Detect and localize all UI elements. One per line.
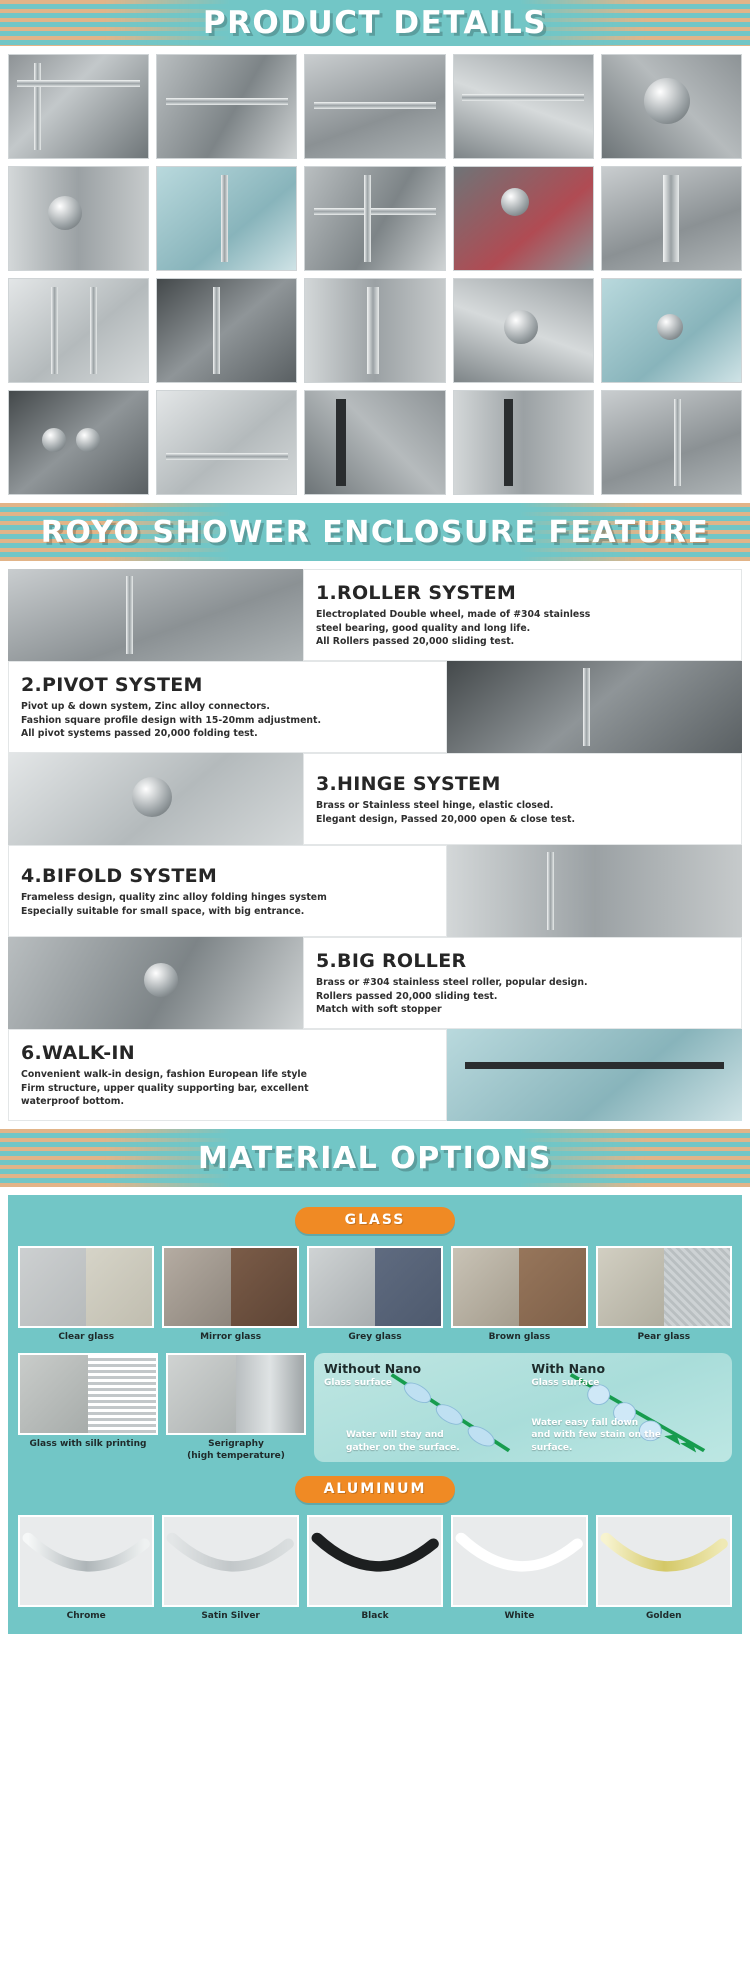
glass-swatch-clear[interactable]: Clear glass <box>18 1246 154 1343</box>
banner-stripes-left <box>0 1129 230 1187</box>
product-photo[interactable] <box>601 54 742 159</box>
glass-swatch-label: Mirror glass <box>162 1328 298 1343</box>
feature-item-roller-system: 1.ROLLER SYSTEM Electroplated Double whe… <box>8 569 742 661</box>
feature-title: 5.BIG ROLLER <box>316 950 731 972</box>
feature-text: 4.BIFOLD SYSTEM Frameless design, qualit… <box>8 845 447 937</box>
feature-title: 2.PIVOT SYSTEM <box>21 674 436 696</box>
product-photo[interactable] <box>453 390 594 495</box>
nano-without-caption: Water will stay and gather on the surfac… <box>346 1429 530 1453</box>
nano-with-column: With Nano Glass surface <box>531 1361 723 1388</box>
glass-swatch-row-1: Clear glass Mirror glass Grey glass <box>18 1246 732 1343</box>
glass-swatch-image <box>307 1246 443 1328</box>
feature-body: Brass or #304 stainless steel roller, po… <box>316 976 731 1016</box>
feature-image[interactable] <box>447 661 742 753</box>
nano-with-subtitle: Glass surface <box>531 1378 723 1388</box>
feature-body: Pivot up & down system, Zinc alloy conne… <box>21 700 436 740</box>
glass-swatch-image <box>596 1246 732 1328</box>
nano-with-caption: Water easy fall down and with few stain … <box>531 1417 715 1453</box>
feature-text: 5.BIG ROLLER Brass or #304 stainless ste… <box>303 937 742 1029</box>
glass-swatch-mirror[interactable]: Mirror glass <box>162 1246 298 1343</box>
material-section-title: MATERIAL OPTIONS <box>198 1141 552 1176</box>
aluminum-pill-label: ALUMINUM <box>295 1476 455 1503</box>
feature-image[interactable] <box>8 753 303 845</box>
aluminum-finish-label: Golden <box>596 1607 732 1622</box>
aluminum-finish-row: Chrome Satin Silver Black <box>18 1515 732 1622</box>
feature-text: 1.ROLLER SYSTEM Electroplated Double whe… <box>303 569 742 661</box>
aluminum-finish-image <box>307 1515 443 1607</box>
banner-material-options: MATERIAL OPTIONS <box>0 1129 750 1187</box>
feature-title: 1.ROLLER SYSTEM <box>316 582 731 604</box>
glass-swatch-image <box>166 1353 306 1435</box>
glass-swatch-pear[interactable]: Pear glass <box>596 1246 732 1343</box>
glass-swatch-image <box>18 1353 158 1435</box>
glass-swatch-label: Glass with silk printing <box>18 1435 158 1450</box>
glass-swatch-label: Brown glass <box>451 1328 587 1343</box>
feature-text: 2.PIVOT SYSTEM Pivot up & down system, Z… <box>8 661 447 753</box>
feature-title: 4.BIFOLD SYSTEM <box>21 865 436 887</box>
aluminum-finish-satin-silver[interactable]: Satin Silver <box>162 1515 298 1622</box>
feature-list: 1.ROLLER SYSTEM Electroplated Double whe… <box>0 561 750 1129</box>
glass-pill-label: GLASS <box>295 1207 455 1234</box>
feature-section-title: ROYO SHOWER ENCLOSURE FEATURE <box>41 515 709 550</box>
product-photo[interactable] <box>601 390 742 495</box>
product-photo[interactable] <box>156 54 297 159</box>
product-image-grid-wrapper <box>0 46 750 503</box>
aluminum-finish-image <box>162 1515 298 1607</box>
aluminum-finish-black[interactable]: Black <box>307 1515 443 1622</box>
product-photo[interactable] <box>8 278 149 383</box>
glass-swatch-label: Clear glass <box>18 1328 154 1343</box>
glass-swatch-row-2: Glass with silk printing Serigraphy (hig… <box>18 1353 732 1462</box>
feature-item-hinge-system: 3.HINGE SYSTEM Brass or Stainless steel … <box>8 753 742 845</box>
aluminum-finish-image <box>596 1515 732 1607</box>
product-photo[interactable] <box>601 166 742 271</box>
glass-swatch-label: Pear glass <box>596 1328 732 1343</box>
aluminum-finish-label: White <box>451 1607 587 1622</box>
feature-item-big-roller: 5.BIG ROLLER Brass or #304 stainless ste… <box>8 937 742 1029</box>
feature-body: Convenient walk-in design, fashion Europ… <box>21 1068 436 1108</box>
product-photo[interactable] <box>453 54 594 159</box>
feature-body: Electroplated Double wheel, made of #304… <box>316 608 731 648</box>
glass-swatch-brown[interactable]: Brown glass <box>451 1246 587 1343</box>
product-photo[interactable] <box>601 278 742 383</box>
glass-swatch-image <box>18 1246 154 1328</box>
aluminum-finish-golden[interactable]: Golden <box>596 1515 732 1622</box>
nano-with-title: With Nano <box>531 1361 723 1376</box>
product-photo[interactable] <box>8 54 149 159</box>
feature-item-walk-in: 6.WALK-IN Convenient walk-in design, fas… <box>8 1029 742 1121</box>
banner-stripes-left <box>0 0 230 46</box>
glass-swatch-image <box>162 1246 298 1328</box>
feature-item-pivot-system: 2.PIVOT SYSTEM Pivot up & down system, Z… <box>8 661 742 753</box>
aluminum-finish-label: Chrome <box>18 1607 154 1622</box>
aluminum-finish-white[interactable]: White <box>451 1515 587 1622</box>
feature-body: Frameless design, quality zinc alloy fol… <box>21 891 436 918</box>
product-detail-page: PRODUCT DETAILS <box>0 0 750 1644</box>
feature-text: 6.WALK-IN Convenient walk-in design, fas… <box>8 1029 447 1121</box>
product-photo[interactable] <box>304 278 445 383</box>
product-photo[interactable] <box>8 390 149 495</box>
product-photo[interactable] <box>304 54 445 159</box>
feature-title: 6.WALK-IN <box>21 1042 436 1064</box>
feature-image[interactable] <box>8 937 303 1029</box>
product-photo[interactable] <box>156 390 297 495</box>
product-photo[interactable] <box>156 166 297 271</box>
nano-without-subtitle: Glass surface <box>324 1378 516 1388</box>
banner-stripes-right <box>520 1129 750 1187</box>
feature-title: 3.HINGE SYSTEM <box>316 773 731 795</box>
product-photo[interactable] <box>304 166 445 271</box>
aluminum-finish-label: Black <box>307 1607 443 1622</box>
glass-swatch-label: Grey glass <box>307 1328 443 1343</box>
product-image-grid <box>8 54 742 495</box>
feature-image[interactable] <box>447 845 742 937</box>
banner-product-details: PRODUCT DETAILS <box>0 0 750 46</box>
product-photo[interactable] <box>453 166 594 271</box>
aluminum-group: ALUMINUM Chrome Satin Silver <box>18 1476 732 1622</box>
glass-swatch-grey[interactable]: Grey glass <box>307 1246 443 1343</box>
product-photo[interactable] <box>304 390 445 495</box>
feature-body: Brass or Stainless steel hinge, elastic … <box>316 799 731 826</box>
nano-without-column: Without Nano Glass surface <box>324 1361 516 1388</box>
nano-without-title: Without Nano <box>324 1361 516 1376</box>
glass-swatch-serigraphy[interactable]: Serigraphy (high temperature) <box>166 1353 306 1462</box>
product-photo[interactable] <box>453 278 594 383</box>
aluminum-finish-label: Satin Silver <box>162 1607 298 1622</box>
page-title: PRODUCT DETAILS <box>203 5 547 41</box>
product-photo[interactable] <box>156 278 297 383</box>
aluminum-finish-image <box>18 1515 154 1607</box>
banner-stripes-right <box>520 0 750 46</box>
material-panel: GLASS Clear glass Mirror glass <box>8 1195 742 1634</box>
glass-swatch-label: Serigraphy (high temperature) <box>166 1435 306 1462</box>
product-photo[interactable] <box>8 166 149 271</box>
banner-feature: ROYO SHOWER ENCLOSURE FEATURE <box>0 503 750 561</box>
feature-text: 3.HINGE SYSTEM Brass or Stainless steel … <box>303 753 742 845</box>
glass-swatch-image <box>451 1246 587 1328</box>
aluminum-finish-chrome[interactable]: Chrome <box>18 1515 154 1622</box>
aluminum-finish-image <box>451 1515 587 1607</box>
feature-item-bifold-system: 4.BIFOLD SYSTEM Frameless design, qualit… <box>8 845 742 937</box>
nano-coating-diagram: Without Nano Glass surface With Nano Gla… <box>314 1353 732 1462</box>
glass-swatch-silk-printing[interactable]: Glass with silk printing <box>18 1353 158 1462</box>
feature-image[interactable] <box>447 1029 742 1121</box>
material-options-section: GLASS Clear glass Mirror glass <box>0 1187 750 1644</box>
feature-image[interactable] <box>8 569 303 661</box>
